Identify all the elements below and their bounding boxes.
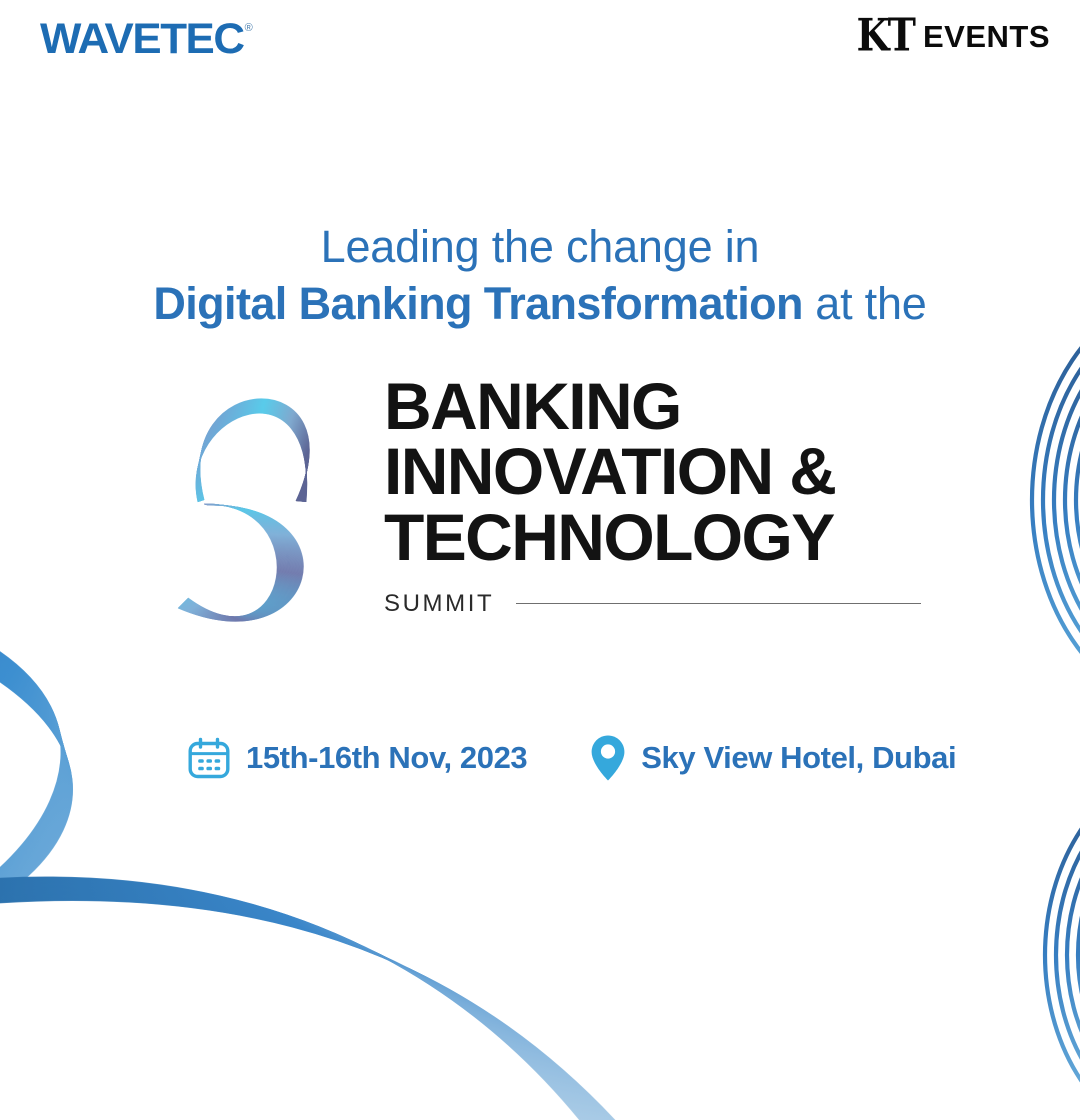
- event-venue-label: Sky View Hotel, Dubai: [641, 740, 956, 776]
- banking-summit-b-mark: [168, 352, 364, 662]
- event-date-item: 15th-16th Nov, 2023: [186, 735, 527, 781]
- calendar-icon: [186, 735, 232, 781]
- kt-events-label: EVENTS: [923, 21, 1050, 52]
- headline-line-2: Digital Banking Transformation at the: [0, 277, 1080, 331]
- headline-tail: at the: [803, 278, 927, 329]
- poster-header: WAVETEC ® KT EVENTS: [0, 0, 1080, 90]
- event-subtitle-row: SUMMIT: [384, 590, 921, 618]
- decor-wave-bottom-left: [0, 600, 640, 1120]
- kt-monogram: KT: [857, 14, 915, 59]
- event-subtitle: SUMMIT: [384, 590, 494, 618]
- event-logo-text: BANKING INNOVATION & TECHNOLOGY SUMMIT: [384, 352, 921, 618]
- location-pin-icon: [589, 733, 627, 783]
- registered-trademark-icon: ®: [245, 22, 253, 34]
- headline: Leading the change in Digital Banking Tr…: [0, 222, 1080, 331]
- kt-events-logo[interactable]: KT EVENTS: [855, 16, 1050, 56]
- decor-arcs-right-bottom: [900, 790, 1080, 1120]
- event-venue-item: Sky View Hotel, Dubai: [589, 733, 956, 783]
- event-subtitle-rule: [516, 603, 921, 604]
- event-logo-block: BANKING INNOVATION & TECHNOLOGY SUMMIT: [168, 352, 958, 672]
- headline-emphasis: Digital Banking Transformation: [153, 278, 803, 329]
- headline-line-1: Leading the change in: [0, 222, 1080, 272]
- event-title-line-3: TECHNOLOGY: [384, 505, 921, 570]
- poster-canvas: WAVETEC ® KT EVENTS Leading the change i…: [0, 0, 1080, 1080]
- event-details-row: 15th-16th Nov, 2023 Sky View Hotel, Duba…: [186, 733, 956, 783]
- event-date-label: 15th-16th Nov, 2023: [246, 740, 527, 776]
- event-title-line-2: INNOVATION &: [384, 439, 921, 504]
- wavetec-logo[interactable]: WAVETEC ®: [42, 18, 253, 61]
- wavetec-wordmark: WAVETEC: [40, 18, 244, 61]
- event-title-line-1: BANKING: [384, 374, 921, 439]
